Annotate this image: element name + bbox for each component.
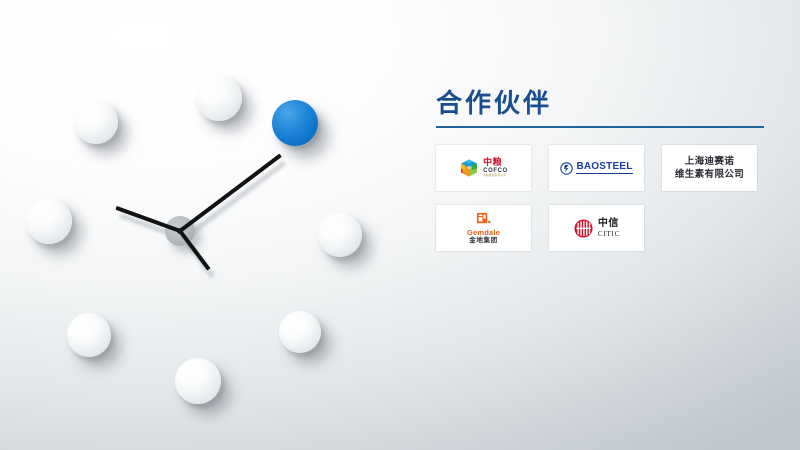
clock-marker-3 xyxy=(318,213,362,257)
clock-marker-1-highlight xyxy=(272,100,318,146)
citic-cn-text: 中信 xyxy=(598,219,620,229)
desano-line-1: 上海迪赛诺 xyxy=(675,155,744,168)
page-title: 合作伙伴 xyxy=(432,86,772,120)
citic-en-text: CITIC xyxy=(598,231,620,238)
clock-illustration xyxy=(0,0,400,450)
partner-logo-grid: 中粮 COFCO 中粮集团有限公司 BAOSTEEL xyxy=(436,145,772,251)
desano-line-2: 维生素有限公司 xyxy=(675,168,744,181)
clock-marker-12 xyxy=(196,75,242,121)
clock-marker-11 xyxy=(74,100,118,144)
partner-card-baosteel[interactable]: BAOSTEEL xyxy=(549,145,644,191)
clock-marker-5 xyxy=(175,358,221,404)
partner-card-shanghai-desano[interactable]: 上海迪赛诺 维生素有限公司 xyxy=(662,145,757,191)
clock-marker-9 xyxy=(26,198,72,244)
slide-canvas: 合作伙伴 xyxy=(0,0,800,450)
clock-marker-7 xyxy=(67,313,111,357)
partner-card-gemdale[interactable]: Gemdale 金地集团 xyxy=(436,205,531,251)
gemdale-mark-icon xyxy=(476,212,491,227)
cofco-cube-icon xyxy=(459,158,479,178)
partner-card-cofco[interactable]: 中粮 COFCO 中粮集团有限公司 xyxy=(436,145,531,191)
gemdale-cn-text: 金地集团 xyxy=(467,238,500,245)
partner-card-citic[interactable]: 中信 CITIC xyxy=(549,205,644,251)
clock-marker-4 xyxy=(279,311,321,353)
baosteel-emblem-icon xyxy=(560,162,573,175)
citic-emblem-icon xyxy=(573,218,594,239)
clock-hub-pin xyxy=(177,228,183,234)
gemdale-en-text: Gemdale xyxy=(467,229,500,237)
cofco-tagline: 中粮集团有限公司 xyxy=(483,175,508,178)
baosteel-wordmark: BAOSTEEL xyxy=(576,162,632,174)
cofco-cn-text: 中粮 xyxy=(483,158,508,167)
clock-counterweight-hand xyxy=(178,230,210,271)
minute-hand-shadow xyxy=(182,161,286,241)
partners-panel: 合作伙伴 xyxy=(432,86,772,251)
clock-minute-hand xyxy=(179,154,282,233)
title-underline-rule xyxy=(436,126,764,128)
